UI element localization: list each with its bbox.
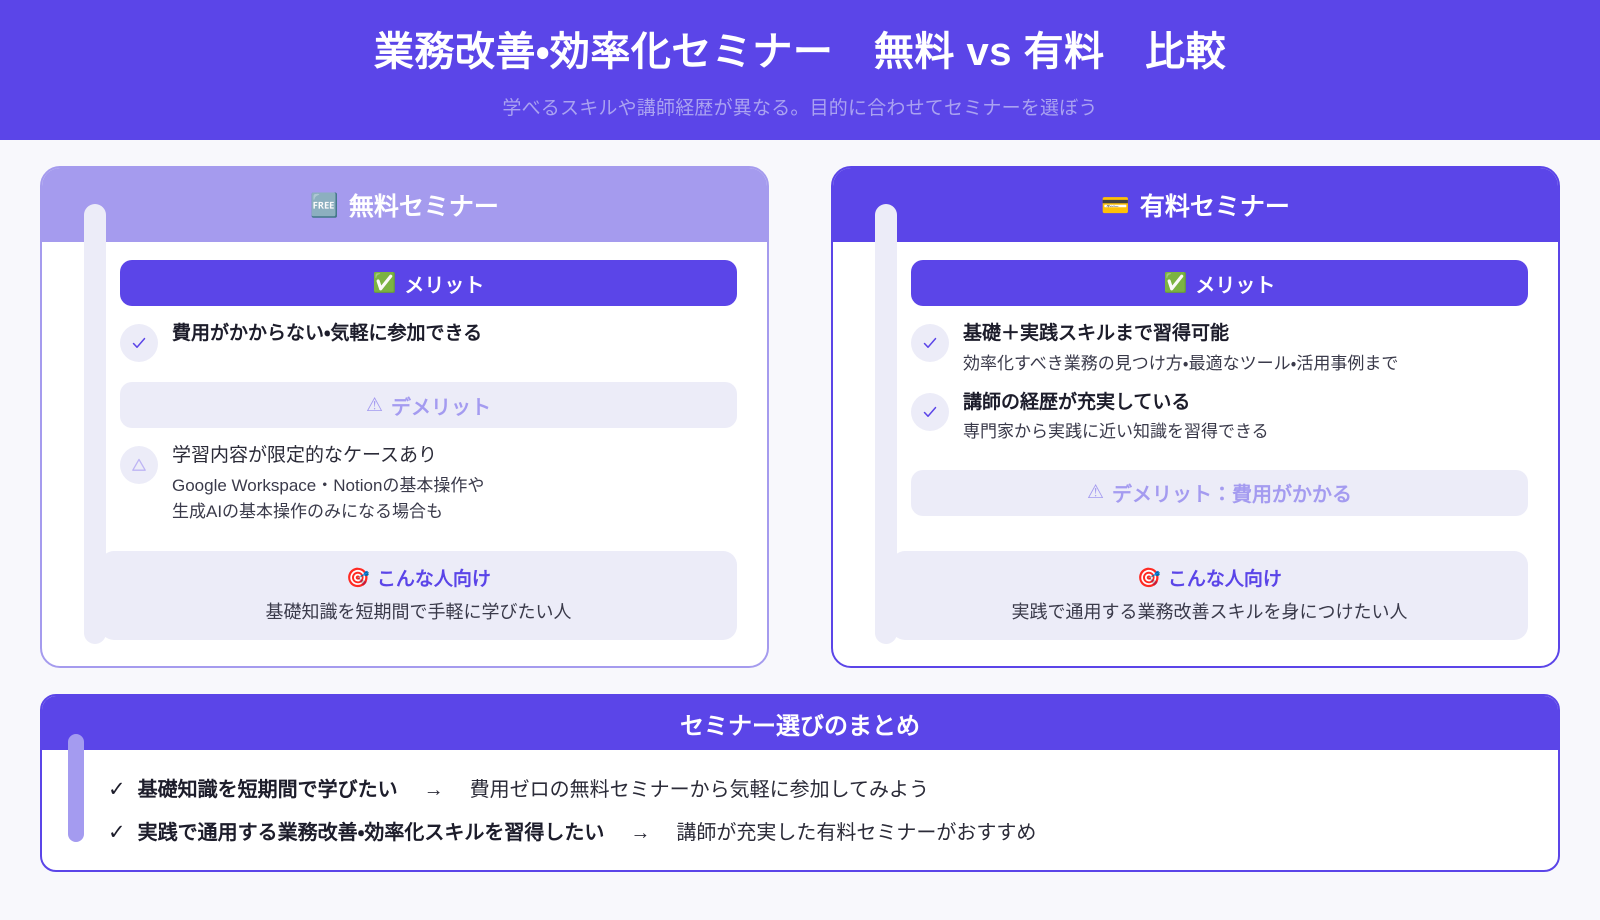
card-free-seminar: 🆓 無料セミナー ✅ メリット 費用がかからない・気軽に参加できる <box>40 166 769 668</box>
check-icon: ✓ <box>108 820 126 845</box>
summary-rail <box>68 734 84 842</box>
target-audience-heading-paid: 🎯 こんな人向け <box>907 564 1512 591</box>
direct-hit-icon: 🎯 <box>346 566 370 590</box>
card-paid-seminar: 💳 有料セミナー ✅ メリット 基礎＋実践スキルまで習得可能 効率化すべき業務の… <box>831 166 1560 668</box>
card-free-header: 🆓 無料セミナー <box>42 168 767 242</box>
arrow-right-icon: → <box>616 822 664 845</box>
target-audience-free: 🎯 こんな人向け 基礎知識を短期間で手軽に学びたい人 <box>100 551 737 640</box>
list-item-text: 費用がかからない・気軽に参加できる <box>172 320 737 349</box>
list-item-description: 専門家から実践に近い知識を習得できる <box>963 419 1528 445</box>
list-item-text: 学習内容が限定的なケースあり Google Workspace・Notionの基… <box>172 442 737 525</box>
card-paid-header: 💳 有料セミナー <box>833 168 1558 242</box>
target-audience-description: 基礎知識を短期間で手軽に学びたい人 <box>116 598 721 624</box>
summary-title: セミナー選びのまとめ <box>42 696 1558 750</box>
target-audience-paid: 🎯 こんな人向け 実践で通用する業務改善スキルを身につけたい人 <box>891 551 1528 640</box>
check-mark-button-icon: ✅ <box>1164 274 1188 293</box>
credit-card-icon: 💳 <box>1101 194 1130 217</box>
merit-bar-paid: ✅ メリット <box>911 260 1528 306</box>
list-item-text: 講師の経歴が充実している 専門家から実践に近い知識を習得できる <box>963 389 1528 446</box>
page-title: 業務改善・効率化セミナー 無料 vs 有料 比較 <box>374 29 1226 75</box>
demerit-label-paid: デメリット：費用がかかる <box>1112 478 1352 507</box>
target-audience-description: 実践で通用する業務改善スキルを身につけたい人 <box>907 598 1512 624</box>
card-free-body: ✅ メリット 費用がかからない・気軽に参加できる ⚠ デメリット <box>42 242 767 666</box>
list-item: 費用がかからない・気軽に参加できる <box>120 314 737 368</box>
summary-condition: 実践で通用する業務改善・効率化スキルを習得したい <box>138 816 605 845</box>
card-paid-title: 有料セミナー <box>1140 187 1290 223</box>
merit-label-paid: メリット <box>1195 269 1275 298</box>
target-audience-label: こんな人向け <box>1168 564 1282 591</box>
summary-panel: セミナー選びのまとめ ✓ 基礎知識を短期間で学びたい → 費用ゼロの無料セミナー… <box>40 694 1560 872</box>
check-circle-icon <box>911 324 949 362</box>
warning-icon: ⚠ <box>366 396 383 415</box>
check-icon: ✓ <box>108 777 126 802</box>
warning-triangle-icon <box>120 446 158 484</box>
list-item-title: 費用がかからない・気軽に参加できる <box>172 320 737 349</box>
demerit-items-free: 学習内容が限定的なケースあり Google Workspace・Notionの基… <box>120 436 737 531</box>
free-icon: 🆓 <box>310 194 339 217</box>
list-item-description: Google Workspace・Notionの基本操作や 生成AIの基本操作の… <box>172 473 737 526</box>
warning-icon: ⚠ <box>1087 483 1104 502</box>
page-header-banner: 業務改善・効率化セミナー 無料 vs 有料 比較 学べるスキルや講師経歴が異なる… <box>0 0 1600 140</box>
list-item: 基礎＋実践スキルまで習得可能 効率化すべき業務の見つけ方・最適なツール・活用事例… <box>911 314 1528 383</box>
card-paid-body: ✅ メリット 基礎＋実践スキルまで習得可能 効率化すべき業務の見つけ方・最適なツ… <box>833 242 1558 666</box>
merit-items-free: 費用がかからない・気軽に参加できる <box>120 314 737 368</box>
demerit-bar-paid: ⚠ デメリット：費用がかかる <box>911 470 1528 516</box>
list-item: 講師の経歴が充実している 専門家から実践に近い知識を習得できる <box>911 383 1528 452</box>
summary-result: 講師が充実した有料セミナーがおすすめ <box>676 816 1036 845</box>
list-item-title: 講師の経歴が充実している <box>963 389 1528 418</box>
target-audience-label: こんな人向け <box>377 564 491 591</box>
page-subtitle: 学べるスキルや講師経歴が異なる。目的に合わせてセミナーを選ぼう <box>502 93 1097 120</box>
demerit-bar-free: ⚠ デメリット <box>120 382 737 428</box>
merit-bar-free: ✅ メリット <box>120 260 737 306</box>
merit-label-free: メリット <box>404 269 484 298</box>
check-circle-icon <box>911 393 949 431</box>
summary-condition: 基礎知識を短期間で学びたい <box>138 773 398 802</box>
card-free-title: 無料セミナー <box>349 187 499 223</box>
merit-items-paid: 基礎＋実践スキルまで習得可能 効率化すべき業務の見つけ方・最適なツール・活用事例… <box>911 314 1528 452</box>
summary-body: ✓ 基礎知識を短期間で学びたい → 費用ゼロの無料セミナーから気軽に参加してみよ… <box>42 750 1558 870</box>
comparison-columns: 🆓 無料セミナー ✅ メリット 費用がかからない・気軽に参加できる <box>0 140 1600 668</box>
summary-row: ✓ 実践で通用する業務改善・効率化スキルを習得したい → 講師が充実した有料セミ… <box>108 809 1528 852</box>
list-item-text: 基礎＋実践スキルまで習得可能 効率化すべき業務の見つけ方・最適なツール・活用事例… <box>963 320 1528 377</box>
list-item-description: 効率化すべき業務の見つけ方・最適なツール・活用事例まで <box>963 351 1528 377</box>
list-item-title: 学習内容が限定的なケースあり <box>172 442 737 471</box>
check-mark-button-icon: ✅ <box>373 274 397 293</box>
arrow-right-icon: → <box>410 779 458 802</box>
direct-hit-icon: 🎯 <box>1137 566 1161 590</box>
target-audience-heading-free: 🎯 こんな人向け <box>116 564 721 591</box>
summary-result: 費用ゼロの無料セミナーから気軽に参加してみよう <box>470 773 929 802</box>
summary-row: ✓ 基礎知識を短期間で学びたい → 費用ゼロの無料セミナーから気軽に参加してみよ… <box>108 766 1528 809</box>
list-item: 学習内容が限定的なケースあり Google Workspace・Notionの基… <box>120 436 737 531</box>
demerit-label-free: デメリット <box>391 391 491 420</box>
check-circle-icon <box>120 324 158 362</box>
list-item-title: 基礎＋実践スキルまで習得可能 <box>963 320 1528 349</box>
